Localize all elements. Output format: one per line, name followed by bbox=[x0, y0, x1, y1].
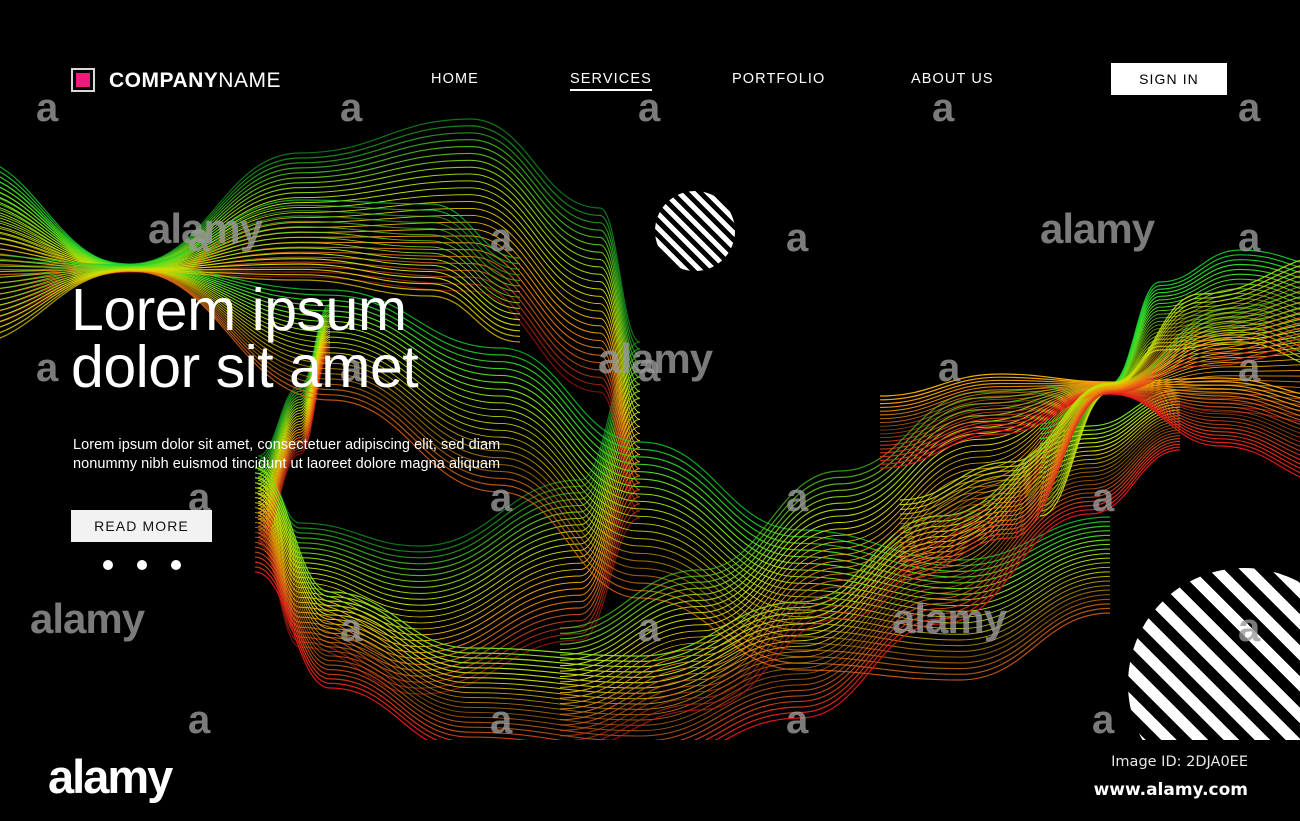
striped-circle-small-icon bbox=[655, 191, 735, 271]
site-header: COMPANYNAME HOME SERVICES PORTFOLIO ABOU… bbox=[0, 0, 1300, 140]
nav-item-portfolio[interactable]: PORTFOLIO bbox=[732, 71, 825, 87]
carousel-dot[interactable] bbox=[171, 560, 181, 570]
alamy-footer-bar: alamy Image ID: 2DJA0EE www.alamy.com bbox=[0, 740, 1300, 821]
image-id-label: Image ID: 2DJA0EE bbox=[1111, 754, 1248, 770]
hero-subtitle: Lorem ipsum dolor sit amet, consectetuer… bbox=[73, 436, 500, 474]
sign-in-button[interactable]: SIGN IN bbox=[1111, 63, 1227, 95]
carousel-dots bbox=[103, 560, 500, 570]
alamy-brand-logo: alamy bbox=[48, 753, 171, 800]
nav-item-services[interactable]: SERVICES bbox=[570, 71, 652, 91]
carousel-dot[interactable] bbox=[103, 560, 113, 570]
hero-title: Lorem ipsum dolor sit amet bbox=[71, 282, 500, 396]
company-logo[interactable]: COMPANYNAME bbox=[71, 68, 281, 92]
square-icon bbox=[71, 68, 95, 92]
logo-text: COMPANYNAME bbox=[109, 70, 281, 91]
landing-page-hero: aaaaaaaaaaaaaaaaaaaaaaaaaalamyalamyalamy… bbox=[0, 0, 1300, 821]
logo-text-light: NAME bbox=[218, 69, 281, 92]
hero-section: Lorem ipsum dolor sit amet Lorem ipsum d… bbox=[71, 282, 500, 570]
read-more-button[interactable]: READ MORE bbox=[71, 510, 212, 542]
carousel-dot[interactable] bbox=[137, 560, 147, 570]
logo-text-bold: COMPANY bbox=[109, 69, 218, 92]
nav-item-about-us[interactable]: ABOUT US bbox=[911, 71, 994, 87]
nav-item-home[interactable]: HOME bbox=[431, 71, 479, 87]
alamy-url-label: www.alamy.com bbox=[1094, 780, 1248, 800]
